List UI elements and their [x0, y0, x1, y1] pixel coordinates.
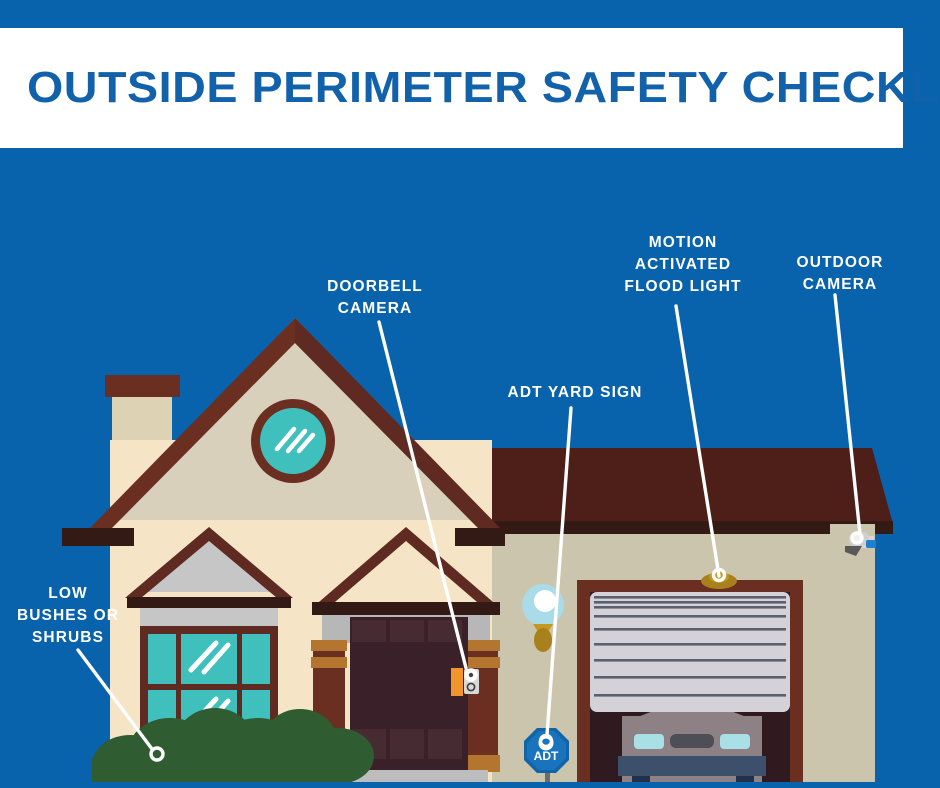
porch-light-bulb — [534, 590, 556, 612]
adt-sign-text: ADT — [534, 749, 559, 763]
garage-door-panel — [590, 592, 790, 712]
eave-left — [62, 528, 134, 546]
window-header — [140, 608, 278, 628]
doorbell-camera-lens-center — [469, 673, 473, 677]
callout-label-flood-light: MOTION ACTIVATED FLOOD LIGHT — [608, 232, 758, 298]
car-bumper — [618, 756, 766, 776]
window-pediment-base — [127, 597, 291, 608]
car-grille — [670, 734, 714, 748]
callout-label-outdoor-camera: OUTDOOR CAMERA — [772, 252, 908, 296]
garage-door-slat — [594, 659, 786, 662]
portico-base — [312, 602, 500, 615]
car-headlight-left — [634, 734, 664, 749]
callout-label-bushes: LOW BUSHES OR SHRUBS — [12, 583, 124, 649]
garage-roof — [438, 448, 893, 524]
garage-door-slat — [594, 694, 786, 697]
garage-door-slat — [594, 601, 786, 604]
garage-wall-right — [830, 524, 875, 782]
door-panel — [390, 620, 424, 642]
garage-door-slat — [594, 596, 786, 599]
eave-right — [455, 528, 505, 546]
door-handle — [451, 668, 463, 696]
car-headlight-right — [720, 734, 750, 749]
door-panel — [390, 729, 424, 759]
infographic-canvas: ADT OUTSIDE PERIMETER SAFETY CHECKLIST — [0, 0, 940, 788]
attic-window-glass — [260, 408, 326, 474]
garage-door-slat — [594, 628, 786, 631]
portico-column-right — [464, 640, 500, 772]
title-bar: OUTSIDE PERIMETER SAFETY CHECKLIST — [0, 28, 903, 148]
door-panel — [352, 620, 386, 642]
garage-door-slat — [594, 615, 786, 618]
door-panel — [428, 729, 462, 759]
garage-roof-shadow — [455, 521, 893, 534]
page-title: OUTSIDE PERIMETER SAFETY CHECKLIST — [27, 63, 940, 113]
outdoor-camera-lens — [866, 540, 876, 548]
garage-door-slat — [594, 676, 786, 679]
garage-wing — [438, 448, 893, 786]
window-pane — [148, 634, 176, 684]
window-pane — [242, 634, 270, 684]
window-pane — [181, 634, 237, 684]
garage-door-slat — [594, 643, 786, 646]
porch-light-base — [534, 628, 552, 652]
garage-door-slat — [594, 606, 786, 609]
callout-label-doorbell-camera: DOORBELL CAMERA — [310, 276, 440, 320]
bottom-strip — [0, 782, 940, 788]
chimney-cap — [105, 375, 180, 397]
callout-label-adt-yard-sign: ADT YARD SIGN — [500, 382, 650, 404]
